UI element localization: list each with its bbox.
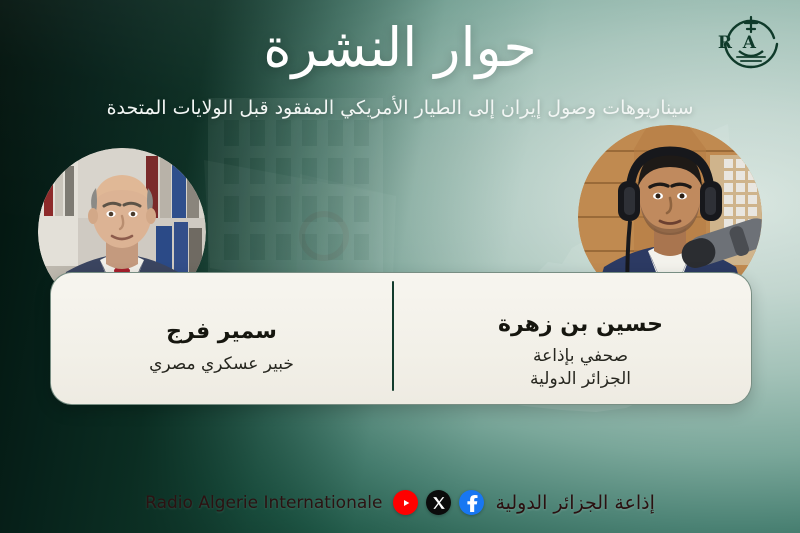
page-subtitle: سيناريوهات وصول إيران إلى الطيار الأمريك… bbox=[0, 96, 800, 121]
guest-block-1: سمير فرج خبير عسكري مصري bbox=[51, 273, 392, 404]
guest-name: سمير فرج bbox=[149, 319, 294, 345]
page-title: حوار النشرة bbox=[0, 20, 800, 77]
facebook-icon[interactable] bbox=[459, 490, 484, 515]
guest-role-line1: خبير عسكري مصري bbox=[149, 353, 294, 376]
footer-bar: إذاعة الجزائر الدولية Radio Algerie Inte… bbox=[0, 490, 800, 515]
guest-name-card: حسين بن زهرة صحفي بإذاعة الجزائر الدولية… bbox=[50, 272, 752, 405]
guest-role-line2: الجزائر الدولية bbox=[498, 368, 663, 391]
x-twitter-icon[interactable] bbox=[426, 490, 451, 515]
broadcast-title-card: R A حوار النشرة سيناريوهات وصول إيران إل… bbox=[0, 0, 800, 533]
guest-role-line1: صحفي بإذاعة bbox=[498, 345, 663, 368]
guest-name: حسين بن زهرة bbox=[498, 312, 663, 338]
footer-station-english: Radio Algerie Internationale bbox=[145, 493, 382, 513]
card-divider bbox=[392, 281, 394, 391]
youtube-icon[interactable] bbox=[393, 490, 418, 515]
social-links bbox=[393, 490, 484, 515]
footer-station-arabic: إذاعة الجزائر الدولية bbox=[495, 492, 654, 514]
guest-block-0: حسين بن زهرة صحفي بإذاعة الجزائر الدولية bbox=[410, 273, 751, 404]
